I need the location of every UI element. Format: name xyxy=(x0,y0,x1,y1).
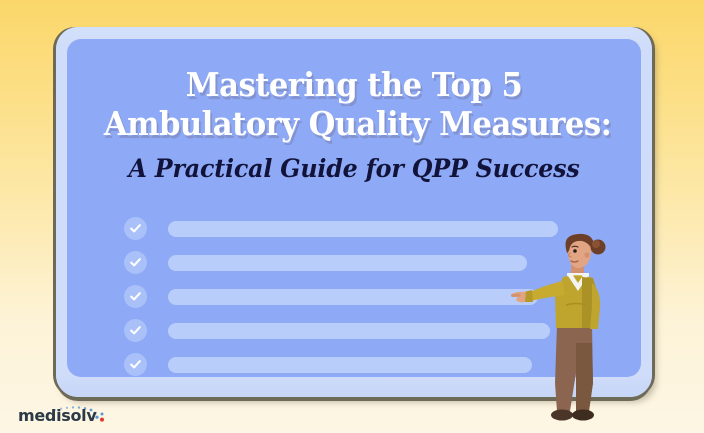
woman-pointing-illustration xyxy=(510,233,625,428)
medisolv-logo: medisolv xyxy=(18,393,128,425)
page-title-line-1: Mastering the Top 5 xyxy=(104,65,604,104)
placeholder-bar xyxy=(168,221,558,237)
logo-wordmark: medisolv xyxy=(18,406,97,425)
check-icon xyxy=(124,319,147,342)
page-title-line-2: Ambulatory Quality Measures: xyxy=(104,104,604,143)
title-block: Mastering the Top 5 Ambulatory Quality M… xyxy=(67,65,641,183)
placeholder-bar xyxy=(168,255,527,271)
check-icon xyxy=(124,285,147,308)
placeholder-bar xyxy=(168,289,538,305)
logo-accent-dot xyxy=(100,418,104,422)
check-icon xyxy=(124,217,147,240)
check-icon xyxy=(124,251,147,274)
placeholder-bar xyxy=(168,323,550,339)
page-subtitle: A Practical Guide for QPP Success xyxy=(98,154,609,183)
check-icon xyxy=(124,353,147,376)
placeholder-bar xyxy=(168,357,532,373)
